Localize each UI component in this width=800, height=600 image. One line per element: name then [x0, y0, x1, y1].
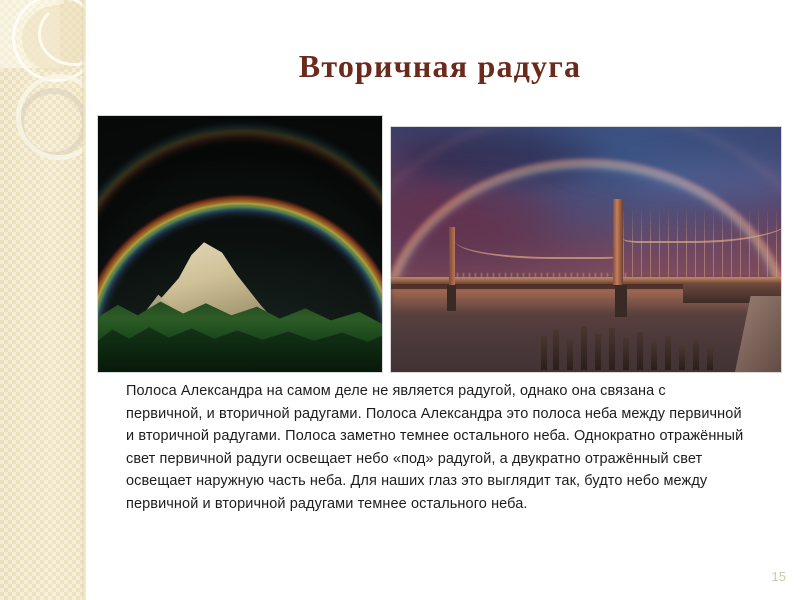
wooden-piling	[567, 340, 573, 370]
wooden-piling	[609, 328, 615, 370]
bridge-pier-left	[447, 285, 456, 311]
bridge-tower-main	[613, 199, 623, 285]
page-number: 15	[772, 569, 786, 584]
bridge-tower-left	[449, 227, 455, 285]
body-paragraph: Полоса Александра на самом деле не являе…	[126, 380, 746, 516]
wooden-piling	[651, 342, 657, 370]
hanger-cable-lines	[623, 207, 782, 279]
wooden-piling	[637, 332, 643, 370]
page-title: Вторичная радуга	[110, 48, 770, 85]
wooden-piling	[707, 348, 713, 370]
image-rainbow-over-suspension-bridge	[390, 126, 782, 373]
wooden-piling	[665, 336, 671, 370]
wooden-piling	[581, 326, 587, 370]
bridge-hanger-cables	[623, 207, 782, 279]
wooden-piling	[679, 346, 685, 370]
wooden-piling	[623, 338, 629, 370]
wooden-piling	[595, 334, 601, 370]
wooden-piling	[553, 330, 559, 370]
sidebar-edge	[82, 0, 86, 600]
image-double-rainbow-over-mountain	[97, 115, 383, 373]
bridge-pier-main	[615, 285, 627, 317]
decorative-sidebar	[0, 0, 86, 600]
wooden-piling	[541, 336, 547, 370]
wooden-piling	[693, 340, 699, 370]
